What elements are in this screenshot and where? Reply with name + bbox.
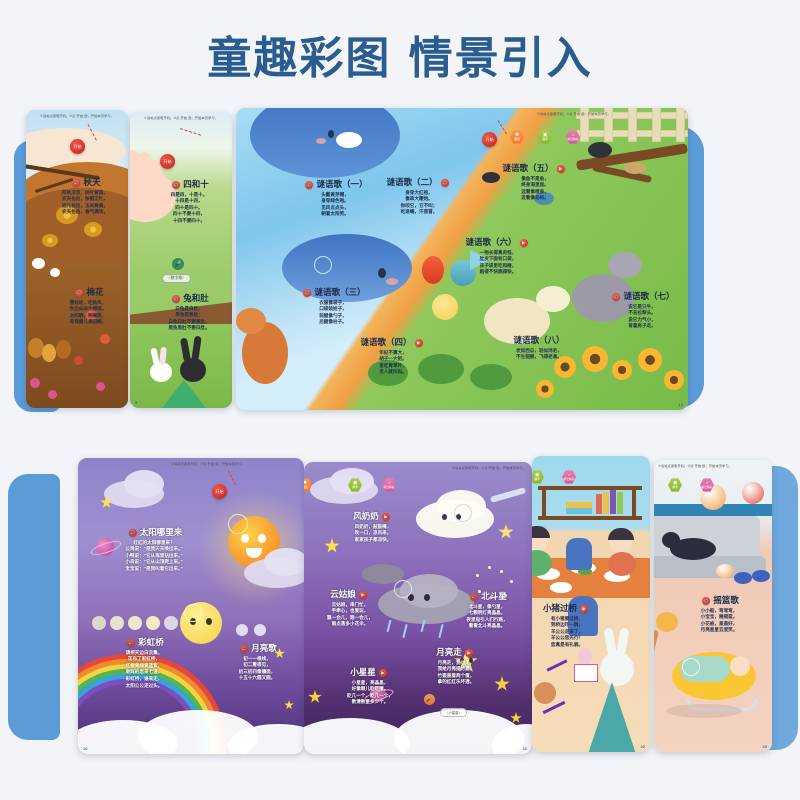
fruit bbox=[100, 334, 110, 344]
start-button[interactable]: 开始 bbox=[160, 154, 175, 169]
poem-text: 四是四，十是十。 十四是十四， 四十是四十。 四十不要十四， 十四不要四十。 bbox=[148, 192, 230, 225]
moon-phase bbox=[254, 624, 266, 636]
baby-head bbox=[730, 656, 750, 676]
poem-title: 谜语歌（五） bbox=[482, 162, 588, 174]
page-number: 9 bbox=[135, 400, 137, 405]
chili-bush bbox=[470, 364, 512, 390]
instruction-text: ①请将点读笔开机；②点 开始 键，开始本页学习。 bbox=[134, 115, 228, 120]
poem-riddle-2: 谜语歌（二） 身穿大红袍， 像串大鞭炮。 你咬它，它不叫； 吃进嘴，汗直冒。 bbox=[364, 176, 474, 216]
fruit bbox=[74, 356, 83, 365]
poem-title: 秋天 bbox=[44, 176, 126, 188]
child-body bbox=[608, 552, 636, 576]
poem-riddle-4: 谜语歌（四） 年纪不算大， 胡子一大把。 爱吃青草叶， 见人就叫妈。 bbox=[340, 336, 446, 376]
cotton-boll bbox=[32, 258, 45, 269]
speaker-icon[interactable] bbox=[441, 179, 449, 187]
shelf bbox=[538, 486, 642, 490]
poem-text: 请把天边白云集， 花布了彩虹桥， 红橙黄绿青蓝紫， 敢踩的您来七道， 彩虹桥，谁… bbox=[96, 650, 192, 690]
lemon-character bbox=[432, 294, 458, 320]
poem-text: 风奶奶，鼓鼓嘴， 吹一口，凉风来， 家家孩子都凉快。 bbox=[326, 524, 420, 544]
bird bbox=[588, 142, 612, 158]
book-stack bbox=[566, 508, 592, 514]
star-dot bbox=[500, 570, 503, 573]
play-icon[interactable] bbox=[465, 649, 473, 657]
page-four-ten[interactable]: ①请将点读笔开机；②点 开始 键，开始本页学习。 开始 四和十 四是四，十是十。… bbox=[130, 112, 232, 408]
speaker-icon[interactable] bbox=[612, 293, 620, 301]
poem-title: 谜语歌（六） bbox=[442, 236, 554, 248]
speaker-icon[interactable] bbox=[303, 289, 311, 297]
tree-shape bbox=[42, 344, 56, 362]
top-book-spread: ①请将点读笔开机；②点 开始 键，开始本页学习。 开始 秋天 阿秋凉凉，树叶黄黄… bbox=[14, 108, 704, 418]
instruction-text: ①请将点读笔开机；②点 开始 键，开始本页学习。 bbox=[310, 465, 526, 470]
poem-text: 身穿大红袍， 像串大鞭炮。 你咬它，它不叫； 吃进嘴，汗直冒。 bbox=[364, 190, 474, 217]
poem-text: 有小猪要过桥， 到桥边吓一跳， 羊公公走来了， 羊公公您先行！ 您真是有礼貌。 bbox=[532, 616, 608, 649]
page-number: 23 bbox=[763, 744, 767, 749]
slipper bbox=[752, 570, 770, 582]
play-icon[interactable] bbox=[379, 669, 387, 677]
page-bridge[interactable]: ▣ 翻译 ♪ 唱出精彩 小猪过桥 有小猪要过桥， 到桥边吓一跳， 羊公公走来了，… bbox=[532, 456, 650, 752]
poem-riddle-3: 谜语歌（三） 衣服像袋子， 口袋装娃子， 前腿像勺子， 后腿像柱子。 bbox=[280, 286, 386, 326]
cloud-eye bbox=[424, 594, 430, 601]
instruction-text: ①请将点读笔开机；②点 开始 键，开始本页学习。 bbox=[118, 461, 298, 466]
kangaroo-head bbox=[236, 308, 266, 334]
page-weather[interactable]: ①请将点读笔开机；②点 开始 键，开始本页学习。 ✺ 跟读 ▣ 翻译 ♪ 唱出精… bbox=[304, 462, 532, 754]
flower bbox=[96, 382, 105, 391]
poem-text: 阿秋凉凉，树叶黄黄。 农夫伯伯，秋割正忙。 娃儿拉拉，玉米黄黄。 农夫伯伯，香气… bbox=[44, 190, 126, 217]
whale-belly bbox=[336, 132, 362, 148]
cloud bbox=[264, 548, 304, 576]
sunflower bbox=[664, 370, 684, 390]
poem-text: 白兔是白肚， 黑兔是黑肚； 白兔白肚不要黑肚， 黑兔黑肚不要白肚。 bbox=[146, 306, 232, 333]
poem-cotton: 棉花 雪娃娃，吃秋风， 吹出朵朵大棉球。 太阳晒，咧嘴笑， 弯弯腰儿满田畴。 bbox=[48, 286, 128, 326]
poem-text: 红红的太阳哪里来？ 公鸡说：“是我天天唤出来。” 小鸭说：“它从海里钻出来。” … bbox=[98, 540, 210, 573]
poem-riddle-7: 谜语歌（七） 说它是只牛， 不去拉犁头。 说它力气小， 背着房子走。 bbox=[596, 290, 688, 330]
whale-eye bbox=[328, 130, 334, 138]
book-cover-left bbox=[8, 474, 60, 740]
bird-nest bbox=[624, 162, 646, 174]
start-button[interactable]: 开始 bbox=[482, 132, 497, 147]
poem-title: 摇篮歌 bbox=[674, 594, 764, 606]
poem-text: 状如西瓜，轻似鸿毛， 不生翅膀，飞得老高。 bbox=[484, 348, 594, 361]
white-rabbit bbox=[150, 362, 172, 382]
page-sky[interactable]: ①请将点读笔开机；②点 开始 键，开始本页学习。 开始 太阳哪里来 红红的太阳哪… bbox=[78, 458, 304, 754]
speaker-icon[interactable] bbox=[129, 529, 137, 537]
poem-riddle-5: 谜语歌（五） 像鱼不是鱼， 终身海里居。 远看像喷泉， 近看像岛屿。 bbox=[482, 162, 588, 202]
note-label: （小星星） bbox=[440, 708, 467, 717]
poem-pig-bridge: 小猪过桥 有小猪要过桥， 到桥边吓一跳， 羊公公走来了， 羊公公您先行！ 您真是… bbox=[532, 602, 608, 649]
poem-title: 月亮走 bbox=[410, 646, 502, 658]
poem-four-ten: 四和十 四是四，十是十。 十四是十四， 四十是四十。 四十不要十四， 十四不要四… bbox=[148, 178, 230, 225]
poem-rainbow: 彩虹桥 请把天边白云集， 花布了彩虹桥， 红橙黄绿青蓝紫， 敢踩的您来七道， 彩… bbox=[96, 636, 192, 689]
moon-phase bbox=[146, 616, 160, 630]
poem-title: 小星星 bbox=[324, 666, 416, 678]
chili-character bbox=[422, 256, 444, 284]
speaker-icon[interactable] bbox=[172, 181, 180, 189]
tap-ring[interactable] bbox=[184, 604, 202, 622]
poem-sun: 太阳哪里来 红红的太阳哪里来？ 公鸡说：“是我天天唤出来。” 小鸭说：“它从海里… bbox=[98, 526, 210, 573]
hay-roll bbox=[42, 234, 58, 247]
moon-eye bbox=[206, 618, 212, 625]
page-number: 22 bbox=[641, 744, 645, 749]
poem-little-star: 小星星 小星星，亮晶晶， 好像眼儿眨眨睛。 眨几一个，眨几一个， 数清数星多少个… bbox=[324, 666, 416, 706]
bush-shape bbox=[162, 380, 206, 408]
poem-title: 谜语歌（八） bbox=[484, 334, 594, 346]
sunflower bbox=[638, 348, 662, 372]
goat-head bbox=[608, 252, 642, 278]
start-button[interactable]: 开始 bbox=[212, 484, 227, 499]
ball bbox=[742, 482, 764, 504]
whale-blush bbox=[316, 138, 326, 144]
whale-eye bbox=[378, 268, 386, 278]
instruction-text: ①请将点读笔开机；②点 开始 键，开始本页学习。 bbox=[466, 111, 682, 116]
moon-phase bbox=[128, 616, 142, 630]
speaker-icon[interactable] bbox=[172, 295, 180, 303]
microphone-icon[interactable]: 🎤 bbox=[424, 694, 435, 705]
poem-title: 北斗星 bbox=[444, 590, 530, 602]
note-label: （数字歌） bbox=[162, 274, 191, 283]
start-button[interactable]: 开始 bbox=[70, 139, 85, 154]
play-icon[interactable] bbox=[382, 513, 390, 521]
speaker-icon[interactable] bbox=[240, 645, 248, 653]
poem-cloud-girl: 云姑娘 云姑娘，串门忙， 手牵心，也爱玩， 飘一会儿，跑一会儿， 雨点落多小花伞… bbox=[304, 588, 400, 628]
poem-title: 谜语歌（四） bbox=[340, 336, 446, 348]
play-icon[interactable] bbox=[580, 605, 588, 613]
rabbit-puppet bbox=[600, 652, 634, 686]
cat-head bbox=[662, 532, 680, 548]
sunflower bbox=[612, 360, 632, 380]
poem-title: 兔和肚 bbox=[146, 292, 232, 304]
tree-shape bbox=[56, 340, 71, 359]
poem-title: 小猪过桥 bbox=[532, 602, 608, 614]
book-spine bbox=[603, 492, 609, 514]
cotton-boll bbox=[50, 268, 60, 277]
book-spine bbox=[617, 492, 623, 514]
speaker-icon[interactable] bbox=[75, 289, 83, 297]
sun-eye bbox=[241, 534, 249, 543]
poem-title: 云姑娘 bbox=[304, 588, 400, 600]
poem-text: 像鱼不是鱼， 终身海里居。 远看像喷泉， 近看像岛屿。 bbox=[482, 176, 588, 203]
microphone-icon[interactable]: 🎤 bbox=[172, 258, 184, 270]
shelf bbox=[538, 516, 642, 520]
poem-autumn: 秋天 阿秋凉凉，树叶黄黄。 农夫伯伯，秋割正忙。 娃儿拉拉，玉米黄黄。 农夫伯伯… bbox=[44, 176, 126, 216]
page-cradle[interactable]: ①请将点读笔开机；②点 开始 键，开始本页学习。 ▣ 翻译 ♪ 唱出精彩 摇篮歌… bbox=[654, 460, 772, 752]
book-spine bbox=[610, 490, 616, 514]
tap-ring[interactable] bbox=[228, 514, 248, 534]
speaker-icon[interactable] bbox=[305, 181, 313, 189]
flower bbox=[48, 390, 57, 399]
page-title: 童趣彩图 情景引入 bbox=[0, 22, 800, 86]
teddy-bear bbox=[534, 682, 556, 704]
poem-title: 月亮歌 bbox=[212, 642, 302, 654]
page-autumn[interactable]: ①请将点读笔开机；②点 开始 键，开始本页学习。 开始 秋天 阿秋凉凉，树叶黄黄… bbox=[26, 110, 128, 408]
bowl bbox=[550, 582, 572, 593]
shelf-post bbox=[542, 486, 546, 520]
book-spine bbox=[596, 494, 602, 514]
soil bbox=[26, 262, 128, 408]
toy-frame bbox=[574, 664, 598, 682]
tap-ring[interactable] bbox=[454, 504, 472, 522]
moon-phase bbox=[92, 616, 106, 630]
poem-title: 谜语歌（三） bbox=[280, 286, 386, 298]
cloud-eye bbox=[442, 514, 447, 520]
poem-text: 小小船，弯弯弯， 小宝宝，睡摇篮。 小花被，盖盖好， 月亮星星云里笑。 bbox=[674, 608, 764, 635]
play-icon[interactable] bbox=[557, 165, 565, 173]
page-number: 12 bbox=[679, 402, 683, 407]
shadow bbox=[666, 704, 742, 718]
poem-text: 一物长得真奇怪， 肚皮下面有口袋， 孩子袋里吃和睡， 跑得不快跳得快。 bbox=[442, 250, 554, 277]
play-icon[interactable] bbox=[520, 239, 528, 247]
page-number: 11 bbox=[523, 746, 527, 751]
slipper bbox=[734, 572, 752, 584]
star-dot bbox=[510, 580, 513, 583]
shelf-post bbox=[632, 486, 636, 520]
whale-blush bbox=[386, 278, 398, 285]
poster-root: 童趣彩图 情景引入 bbox=[0, 0, 800, 800]
poem-text: 月亮走，我也走， 我给月亮提竹篓， 竹篓盖着两个蛋， 拿的红红乐坏透。 bbox=[410, 660, 502, 687]
poem-rabbit: 兔和肚 白兔是白肚， 黑兔是黑肚； 白兔白肚不要黑肚， 黑兔黑肚不要白肚。 bbox=[146, 292, 232, 332]
poem-title: 风奶奶 bbox=[326, 510, 420, 522]
poem-riddle-8: 谜语歌（八） 状如西瓜，轻似鸿毛， 不生翅膀，飞得老高。 bbox=[484, 334, 594, 361]
poem-text: 年纪不算大， 胡子一大把。 爱吃青草叶， 见人就叫妈。 bbox=[340, 350, 446, 377]
poem-riddle-6: 谜语歌（六） 一物长得真奇怪， 肚皮下面有口袋， 孩子袋里吃和睡， 跑得不快跳得… bbox=[442, 236, 554, 276]
instruction-text: ①请将点读笔开机；②点 开始 键，开始本页学习。 bbox=[658, 463, 768, 468]
instruction-text: ①请将点读笔开机；②点 开始 键，开始本页学习。 bbox=[30, 113, 124, 118]
play-icon[interactable] bbox=[359, 591, 367, 599]
poem-text: 衣服像袋子， 口袋装娃子， 前腿像勺子， 后腿像柱子。 bbox=[280, 300, 386, 327]
poem-text: 北斗星，像勺星， 七颗明灯亮晶晶， 夜里指引人们行路， 看看北斗亮晶晶。 bbox=[444, 604, 530, 631]
sunflower bbox=[536, 380, 554, 398]
poem-text: 小星星，亮晶晶， 好像眼儿眨眨睛。 眨几一个，眨几一个， 数清数星多少个。 bbox=[324, 680, 416, 707]
chair bbox=[566, 538, 592, 570]
poem-title: 彩虹桥 bbox=[96, 636, 192, 648]
page-riddles[interactable]: ①请将点读笔开机；②点 开始 键，开始本页学习。 开始 ✺ 跟读 ▣ 翻译 ♪ … bbox=[236, 108, 688, 410]
tap-ring[interactable] bbox=[314, 256, 332, 274]
moon-phase bbox=[110, 616, 124, 630]
star-dot bbox=[488, 566, 491, 569]
ball bbox=[716, 564, 734, 578]
poem-moon-song: 月亮歌 初一一根线， 初二看得见， 初三初四像镰面， 十五十六圆又圆。 bbox=[212, 642, 302, 682]
poem-cradle: 摇篮歌 小小船，弯弯弯， 小宝宝，睡摇篮。 小花被，盖盖好， 月亮星星云里笑。 bbox=[674, 594, 764, 634]
poem-title: 太阳哪里来 bbox=[98, 526, 210, 538]
puppet-sleeve bbox=[588, 682, 636, 752]
sun-eye bbox=[258, 534, 266, 543]
moon-phase bbox=[236, 624, 248, 636]
poem-big-dipper: 北斗星 北斗星，像勺星， 七颗明灯亮晶晶， 夜里指引人们行路， 看看北斗亮晶晶。 bbox=[444, 590, 530, 630]
hay-roll bbox=[84, 222, 102, 237]
moon-phase bbox=[164, 616, 178, 630]
tap-ring[interactable] bbox=[682, 658, 700, 676]
poem-title: 棉花 bbox=[48, 286, 128, 298]
poem-title: 谜语歌（七） bbox=[596, 290, 688, 302]
play-icon[interactable] bbox=[415, 339, 423, 347]
poem-text: 云姑娘，串门忙， 手牵心，也爱玩， 飘一会儿，跑一会儿， 雨点落多小花伞。 bbox=[304, 602, 400, 629]
poem-title: 谜语歌（二） bbox=[364, 176, 474, 188]
cloud bbox=[124, 470, 164, 498]
poem-wind: 风奶奶 风奶奶，鼓鼓嘴， 吹一口，凉风来， 家家孩子都凉快。 bbox=[326, 510, 420, 543]
poem-text: 雪娃娃，吃秋风， 吹出朵朵大棉球。 太阳晒，咧嘴笑， 弯弯腰儿满田畴。 bbox=[48, 300, 128, 327]
speaker-icon[interactable] bbox=[127, 639, 135, 647]
flower bbox=[30, 378, 40, 388]
bottom-book-spread: ①请将点读笔开机；②点 开始 键，开始本页学习。 开始 太阳哪里来 红红的太阳哪… bbox=[8, 452, 798, 764]
poem-text: 初一一根线， 初二看得见， 初三初四像镰面， 十五十六圆又圆。 bbox=[212, 656, 302, 683]
star-dot bbox=[476, 574, 479, 577]
speaker-icon[interactable] bbox=[470, 593, 478, 601]
page-number: 10 bbox=[83, 746, 87, 751]
speaker-icon[interactable] bbox=[702, 597, 710, 605]
poem-title: 四和十 bbox=[148, 178, 230, 190]
poem-moon-walk: 月亮走 月亮走，我也走， 我给月亮提竹篓， 竹篓盖着两个蛋， 拿的红红乐坏透。 bbox=[410, 646, 502, 686]
speaker-icon[interactable] bbox=[72, 179, 80, 187]
black-rabbit bbox=[180, 358, 206, 382]
poem-text: 说它是只牛， 不去拉犁头。 说它力气小， 背着房子走。 bbox=[596, 304, 688, 331]
goat-head bbox=[536, 286, 570, 312]
